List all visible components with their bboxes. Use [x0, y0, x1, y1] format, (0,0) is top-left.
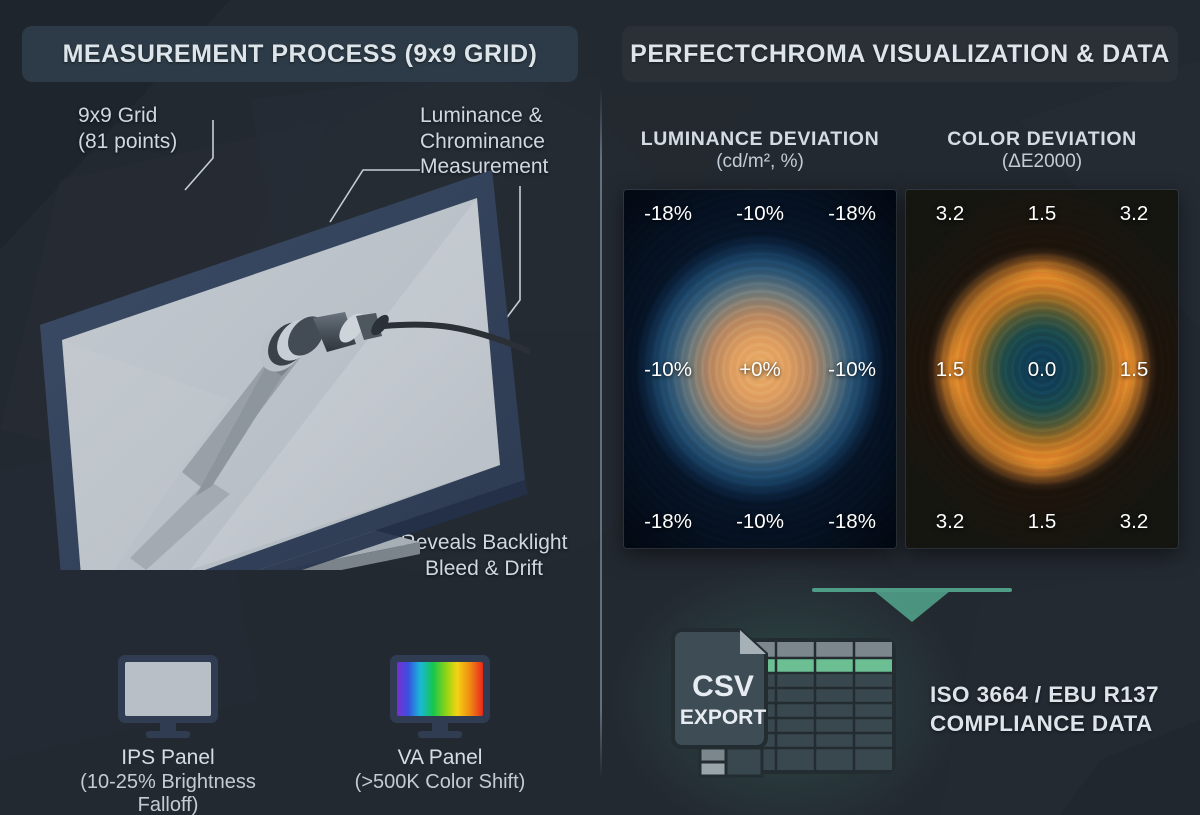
flow-arrow-icon — [812, 588, 1012, 622]
va-panel-sub: (>500K Color Shift) — [330, 771, 550, 794]
color-deviation-heatmap: 3.2 1.5 3.2 1.5 0.0 1.5 3.2 1.5 3.2 — [906, 190, 1178, 548]
callout-grid-line1: 9x9 Grid — [78, 103, 177, 129]
col-cell-mid-left: 1.5 — [908, 358, 992, 382]
lum-cell-bottom-left: -18% — [626, 510, 710, 534]
callout-lumin-line1: Luminance & — [420, 103, 548, 129]
lum-cell-bottom-right: -18% — [810, 510, 894, 534]
monitor-grey-icon — [58, 650, 278, 742]
ips-panel-name: IPS Panel — [58, 746, 278, 770]
va-panel-name: VA Panel — [330, 746, 550, 770]
col-cell-center: 0.0 — [1000, 358, 1084, 382]
color-heatmap-title: COLOR DEVIATION (ΔE2000) — [910, 128, 1174, 173]
csv-label-line2: EXPORT — [680, 706, 767, 729]
panel-type-ips: IPS Panel (10-25% Brightness Falloff) — [58, 650, 278, 815]
lum-cell-mid-left: -10% — [626, 358, 710, 382]
csv-label-line1: CSV — [692, 670, 754, 703]
luminance-title-units: (cd/m², %) — [628, 151, 892, 173]
panel-type-va: VA Panel (>500K Color Shift) — [330, 650, 550, 794]
compliance-line1: ISO 3664 / EBU R137 — [930, 680, 1180, 709]
compliance-data-label: ISO 3664 / EBU R137 COMPLIANCE DATA — [930, 680, 1180, 739]
monitor-svg — [30, 150, 530, 570]
lum-cell-mid-right: -10% — [810, 358, 894, 382]
lum-cell-top-left: -18% — [626, 202, 710, 226]
lum-cell-bottom-center: -10% — [718, 510, 802, 534]
luminance-heatmap-title: LUMINANCE DEVIATION (cd/m², %) — [628, 128, 892, 173]
callout-9x9-grid: 9x9 Grid (81 points) — [78, 103, 177, 154]
col-cell-bottom-center: 1.5 — [1000, 510, 1084, 534]
lum-cell-top-center: -10% — [718, 202, 802, 226]
lum-cell-center: +0% — [718, 358, 802, 382]
col-cell-top-left: 3.2 — [908, 202, 992, 226]
col-cell-bottom-left: 3.2 — [908, 510, 992, 534]
monitor-illustration — [30, 150, 530, 570]
luminance-title-text: LUMINANCE DEVIATION — [628, 128, 892, 151]
col-cell-mid-right: 1.5 — [1092, 358, 1176, 382]
col-cell-top-right: 3.2 — [1092, 202, 1176, 226]
color-title-units: (ΔE2000) — [910, 151, 1174, 173]
measurement-process-panel: 9x9 Grid (81 points) Luminance & Chromin… — [0, 0, 600, 815]
ips-panel-sub: (10-25% Brightness Falloff) — [58, 771, 278, 815]
lum-cell-top-right: -18% — [810, 202, 894, 226]
col-cell-bottom-right: 3.2 — [1092, 510, 1176, 534]
luminance-deviation-heatmap: -18% -10% -18% -10% +0% -10% -18% -10% -… — [624, 190, 896, 548]
monitor-rainbow-icon — [330, 650, 550, 742]
color-title-text: COLOR DEVIATION — [910, 128, 1174, 151]
compliance-line2: COMPLIANCE DATA — [930, 709, 1180, 738]
csv-export-icon[interactable]: CSV EXPORT — [668, 618, 908, 788]
col-cell-top-center: 1.5 — [1000, 202, 1084, 226]
